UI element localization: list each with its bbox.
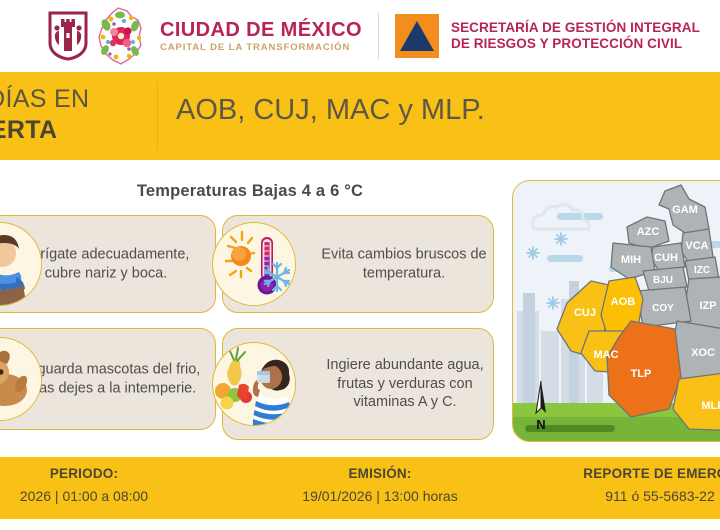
map-label-azc: AZC [637,226,660,238]
footer-emision-value: 19/01/2026 | 13:00 horas [250,488,510,504]
alert-title-bar: ALDÍAS EN ALERTA AOB, CUJ, MAC y MLP. [0,72,720,160]
page-header: CIUDAD DE MÉXICO CAPITAL DE LA TRANSFORM… [0,0,720,72]
alcaldias-label-line2: ALERTA [0,117,156,144]
footer-periodo-value: 2026 | 01:00 a 08:00 [0,488,214,504]
alcaldias-list: AOB, CUJ, MAC y MLP. [176,94,485,127]
map-label-mih: MIH [621,254,641,266]
map-label-vca: VCA [685,240,708,252]
map-label-coy: COY [652,303,674,314]
sgirpc-line1: SECRETARÍA DE GESTIÓN INTEGRAL [451,20,700,36]
person-scarf-icon [0,222,42,306]
footer-emision: EMISIÓN: 19/01/2026 | 13:00 horas [250,466,510,504]
sun-thermometer-snowflake-icon [212,222,296,306]
page-footer: PERIODO: 2026 | 01:00 a 08:00 EMISIÓN: 1… [0,457,720,519]
footer-reporte-heading: REPORTE DE EMERGE [520,466,720,481]
map-label-xoc: XOC [691,347,715,359]
header-divider [378,13,379,59]
sgirpc-line2: DE RIESGOS Y PROTECCIÓN CIVIL [451,36,700,52]
map-label-mac: MAC [593,349,618,361]
cdmx-wordmark: CIUDAD DE MÉXICO CAPITAL DE LA TRANSFORM… [160,20,362,53]
person-drinking-fruits-icon [212,342,296,426]
temperature-headline: Temperaturas Bajas 4 a 6 °C [0,182,500,201]
recommendation-text: Ingiere abundante agua, frutas y verdura… [315,356,495,412]
main-content: Temperaturas Bajas 4 a 6 °C Abrígate ade… [0,160,720,457]
map-label-aob: AOB [611,296,636,308]
alcaldias-en-alerta-label: ALDÍAS EN ALERTA [0,86,156,143]
pet-dog-icon [0,337,42,421]
map-label-tlp: TLP [631,368,652,380]
titlebar-separator [157,82,158,150]
alcaldias-label-line1: ALDÍAS EN [0,86,156,113]
footer-bottom-strip [0,519,720,530]
map-label-cuj: CUJ [574,307,596,319]
cdmx-alert-map: AZC GAM MIH CUH VCA IZC BJU IZP COY XOC … [512,180,720,442]
map-label-gam: GAM [672,204,698,216]
recommendation-text: Evita cambios bruscos de temperatura. [315,245,493,282]
cdmx-shield-icon [48,11,88,61]
footer-reporte-value[interactable]: 911 ó 55-5683-22 [520,488,720,504]
map-label-izp: IZP [699,300,716,312]
footer-reporte-emergencias: REPORTE DE EMERGE 911 ó 55-5683-22 [520,466,720,504]
map-label-izc: IZC [694,265,710,276]
footer-periodo: PERIODO: 2026 | 01:00 a 08:00 [0,466,214,504]
sgirpc-wordmark: SECRETARÍA DE GESTIÓN INTEGRAL DE RIESGO… [451,20,700,52]
map-label-bju: BJU [653,275,673,286]
footer-emision-heading: EMISIÓN: [250,466,510,481]
map-label-mlp: MLP [701,400,720,412]
compass-north-label: N [536,417,545,432]
civil-protection-triangle-icon [395,14,439,58]
alert-infographic: CIUDAD DE MÉXICO CAPITAL DE LA TRANSFORM… [0,0,720,530]
map-label-cuh: CUH [654,252,678,264]
cdmx-subtitle: CAPITAL DE LA TRANSFORMACIÓN [160,43,362,53]
footer-periodo-heading: PERIODO: [0,466,214,481]
cdmx-title: CIUDAD DE MÉXICO [160,20,362,40]
cdmx-flower-emblem-icon [94,7,146,65]
